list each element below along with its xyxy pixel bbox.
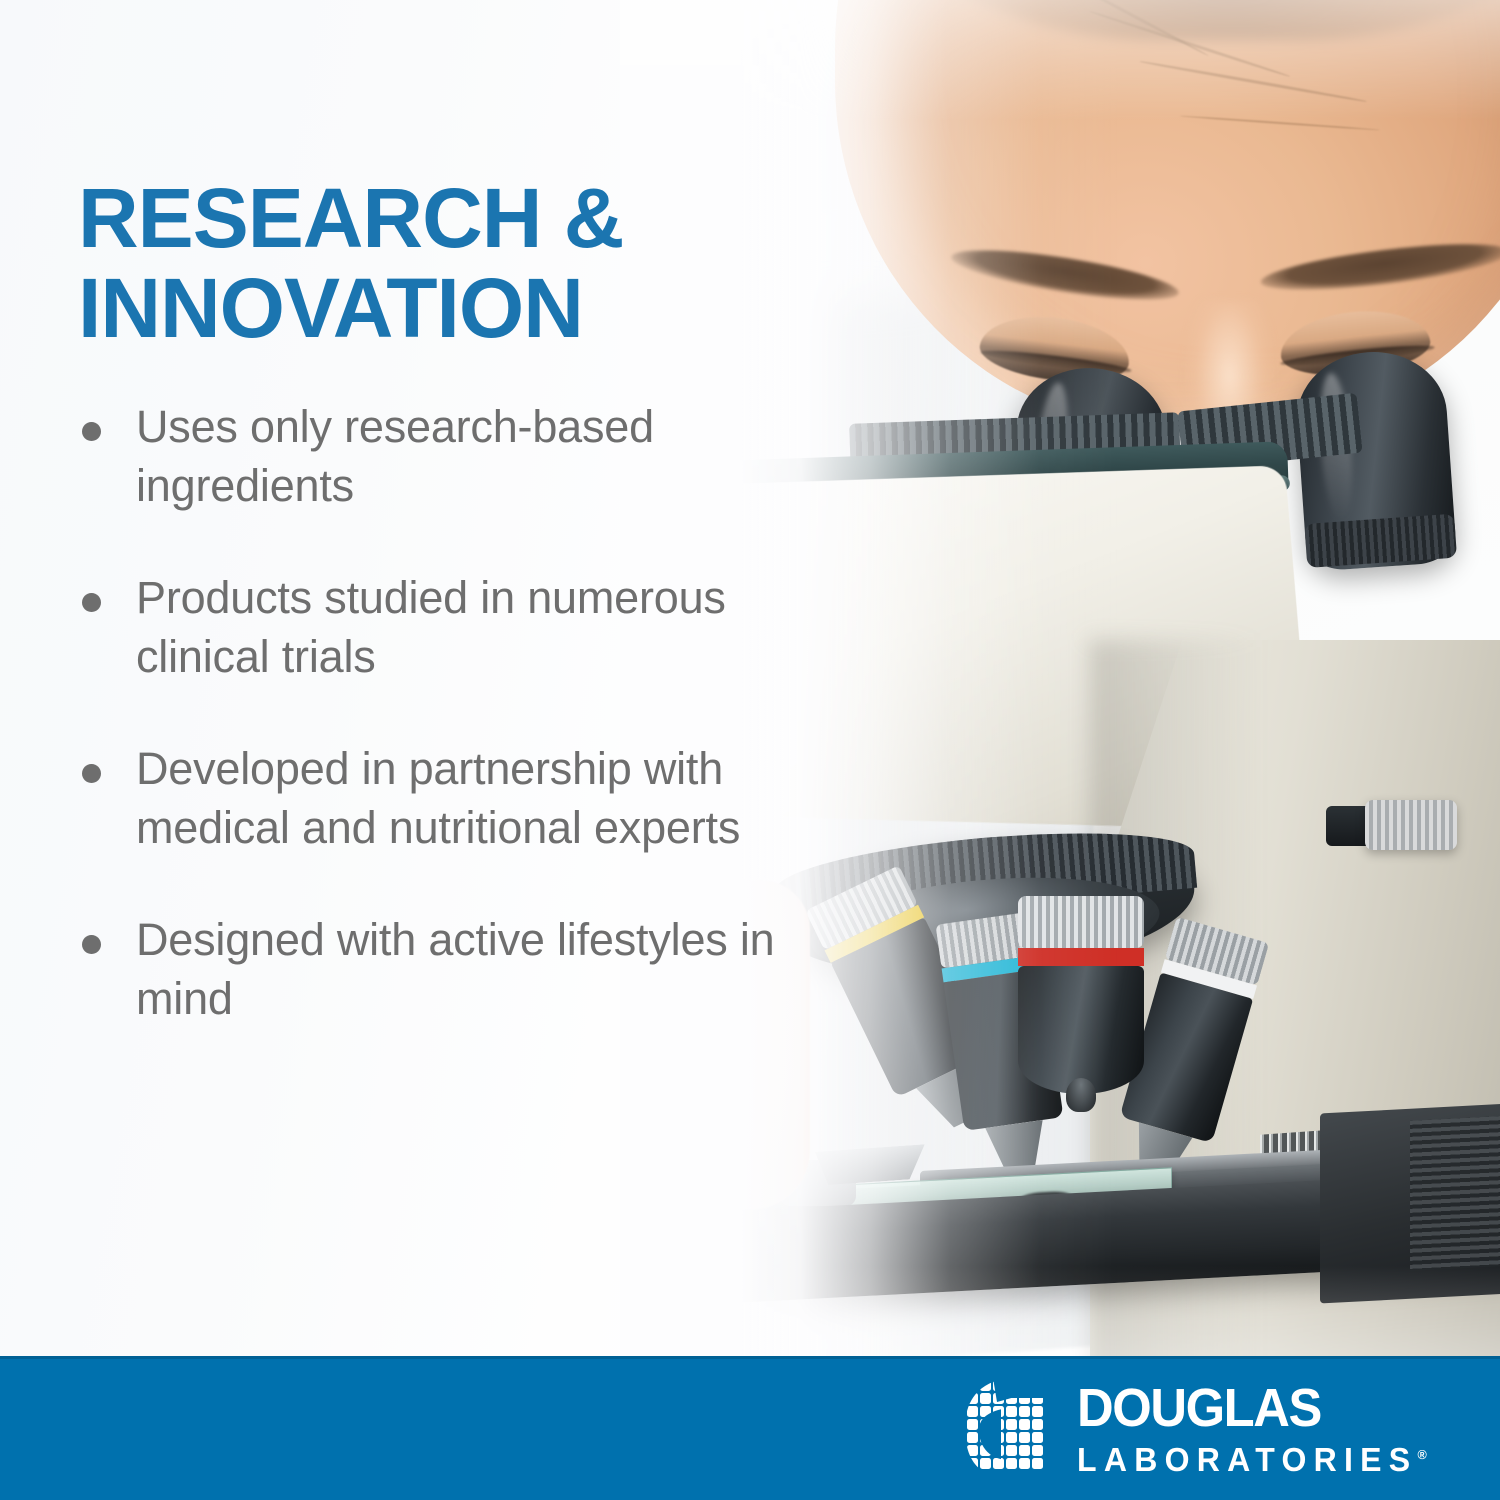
logo-wordmark: DOUGLAS LABORATORIES® — [1077, 1381, 1438, 1476]
objective-lens-red-front — [1018, 896, 1144, 1126]
headline-line-2: INNOVATION — [78, 261, 583, 355]
registered-trademark-icon: ® — [1418, 1447, 1427, 1462]
infographic-card: RESEARCH & INNOVATION Uses only research… — [0, 0, 1500, 1500]
list-item: Designed with active lifestyles in mind — [78, 911, 838, 1028]
objective-color-band — [1018, 948, 1144, 966]
list-item: Uses only research-based ingredients — [78, 398, 838, 515]
text-column: RESEARCH & INNOVATION Uses only research… — [0, 0, 860, 1356]
list-item: Products studied in numerous clinical tr… — [78, 569, 838, 686]
benefits-list: Uses only research-based ingredients Pro… — [78, 398, 838, 1028]
stage-ribs — [1410, 1115, 1500, 1271]
objective-collar — [1018, 896, 1144, 948]
list-item-label: Uses only research-based ingredients — [136, 401, 654, 511]
list-item-label: Designed with active lifestyles in mind — [136, 914, 775, 1024]
douglas-g-dot-matrix-mark-icon — [963, 1376, 1055, 1480]
eyepiece-knurled-ring — [1304, 514, 1457, 568]
page-title: RESEARCH & INNOVATION — [78, 174, 778, 354]
bullet-dot-icon — [82, 935, 101, 954]
douglas-laboratories-logo[interactable]: DOUGLAS LABORATORIES® — [963, 1376, 1438, 1480]
bullet-dot-icon — [82, 764, 101, 783]
logo-brand-primary: DOUGLAS — [1077, 1381, 1416, 1435]
logo-brand-secondary-text: LABORATORIES — [1077, 1441, 1417, 1478]
bullet-dot-icon — [82, 422, 101, 441]
footer-hairline — [0, 1356, 1500, 1359]
list-item-label: Products studied in numerous clinical tr… — [136, 572, 726, 682]
eyepiece-right — [1293, 347, 1458, 572]
brand-footer: DOUGLAS LABORATORIES® — [0, 1356, 1500, 1500]
logo-brand-secondary: LABORATORIES® — [1077, 1443, 1427, 1476]
objective-barrel — [1018, 966, 1144, 1094]
headline-line-1: RESEARCH & — [78, 171, 623, 265]
bullet-dot-icon — [82, 593, 101, 612]
focus-knob — [1365, 800, 1457, 850]
list-item: Developed in partnership with medical an… — [78, 740, 838, 857]
objective-front-lens — [1066, 1078, 1096, 1112]
list-item-label: Developed in partnership with medical an… — [136, 743, 740, 853]
